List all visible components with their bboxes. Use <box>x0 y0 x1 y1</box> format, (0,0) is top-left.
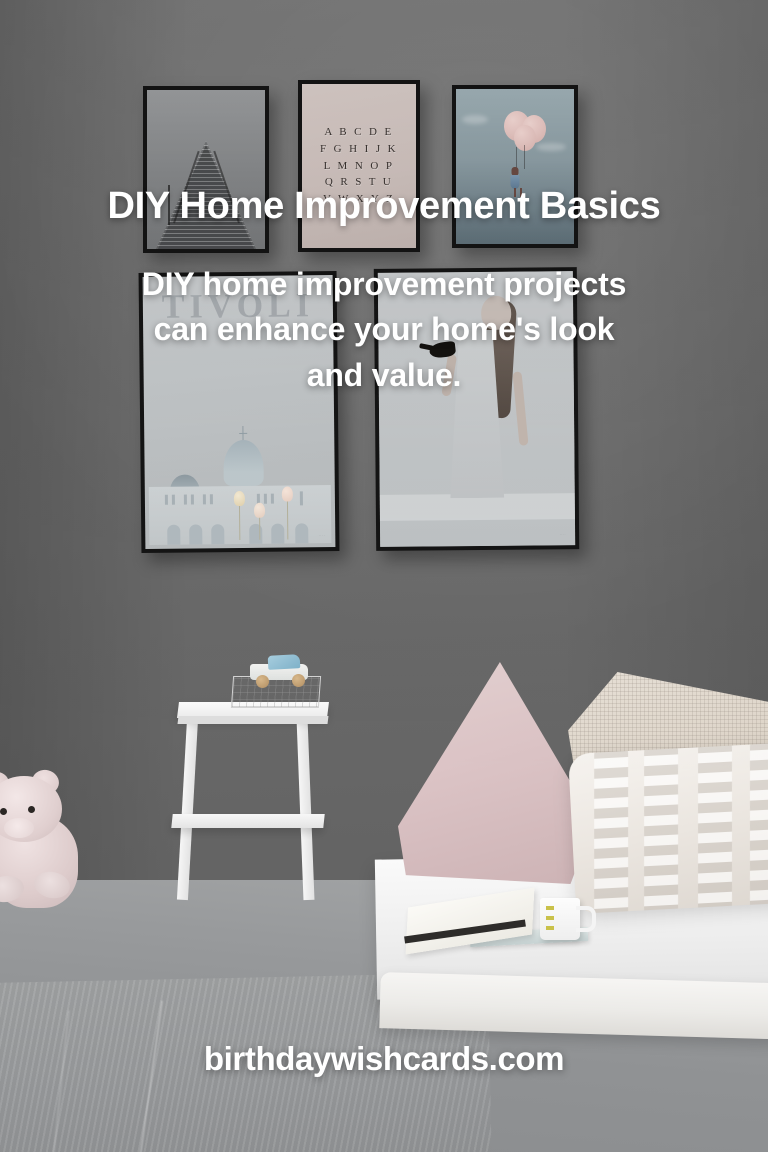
plush-teddy-bear <box>0 772 94 914</box>
pavilion-window <box>184 495 187 505</box>
knit-cable-braid <box>750 742 768 914</box>
knit-cable-braid <box>644 742 678 914</box>
pavilion-window <box>271 494 274 504</box>
subtitle-block: DIY home improvement projects can enhanc… <box>44 262 724 398</box>
grid-pattern-storage-box <box>231 676 321 708</box>
page-title: DIY Home Improvement Basics <box>0 186 768 226</box>
white-step-stool <box>170 702 335 902</box>
alphabet-row-1: A B C D E <box>324 124 393 141</box>
balloon-string <box>516 147 517 169</box>
pavilion-window <box>165 495 168 505</box>
pavilion-window <box>172 495 175 505</box>
stool-leg-right <box>297 718 315 900</box>
mug-dot-pattern <box>546 906 554 934</box>
alphabet-row-2: F G H I J K <box>320 141 398 158</box>
pavilion-window <box>210 494 213 504</box>
pavilion-arch <box>211 524 224 544</box>
pavilion-window <box>264 494 267 504</box>
cushion-cable-knit-white <box>568 742 768 914</box>
subtitle-line-1: DIY home improvement projects <box>44 262 724 307</box>
photo-signature: ···· <box>560 532 566 536</box>
subtitle-line-3: and value. <box>44 353 724 398</box>
cloud-shape <box>462 115 488 124</box>
toy-car-cabin <box>268 654 301 670</box>
subtitle-line-2: can enhance your home's look <box>44 307 724 352</box>
balloon-shape <box>514 125 536 151</box>
pavilion-arch <box>189 524 202 544</box>
pinterest-pin-card: A B C D E F G H I J K L M N O P Q R S T … <box>0 0 768 1152</box>
mug-handle <box>576 906 596 932</box>
cloud-shape <box>536 143 566 151</box>
poster-signature: ···· <box>319 533 326 537</box>
teddy-eye-left <box>0 808 7 815</box>
stool-leg-left <box>177 718 198 900</box>
pavilion-arch <box>271 524 284 544</box>
teddy-eye-right <box>28 806 35 813</box>
toy-car-wheel <box>292 674 305 687</box>
mattress-edge <box>379 972 768 1040</box>
stool-top-edge <box>178 716 329 724</box>
pavilion-window <box>300 491 303 505</box>
knit-cable-braid <box>594 742 628 914</box>
pavilion-window <box>203 494 206 504</box>
tulip-bud <box>254 503 265 518</box>
knit-cable-braid <box>698 742 732 914</box>
teddy-snout <box>4 818 34 838</box>
website-watermark: birthdaywishcards.com <box>0 1040 768 1078</box>
pavilion-main-dome <box>223 440 263 486</box>
stool-lower-step <box>171 814 324 828</box>
framed-art-pier-photo <box>143 86 269 253</box>
tulip-bud <box>234 491 245 506</box>
room-photo-background: A B C D E F G H I J K L M N O P Q R S T … <box>0 0 768 1152</box>
alphabet-row-3: L M N O P <box>324 158 395 175</box>
pavilion-arch <box>167 525 180 545</box>
toy-car-wheel <box>256 675 269 688</box>
balloon-string <box>524 145 525 169</box>
tulip-bud <box>282 486 293 501</box>
pavilion-arch <box>295 523 308 543</box>
pavilion-window <box>191 494 194 504</box>
